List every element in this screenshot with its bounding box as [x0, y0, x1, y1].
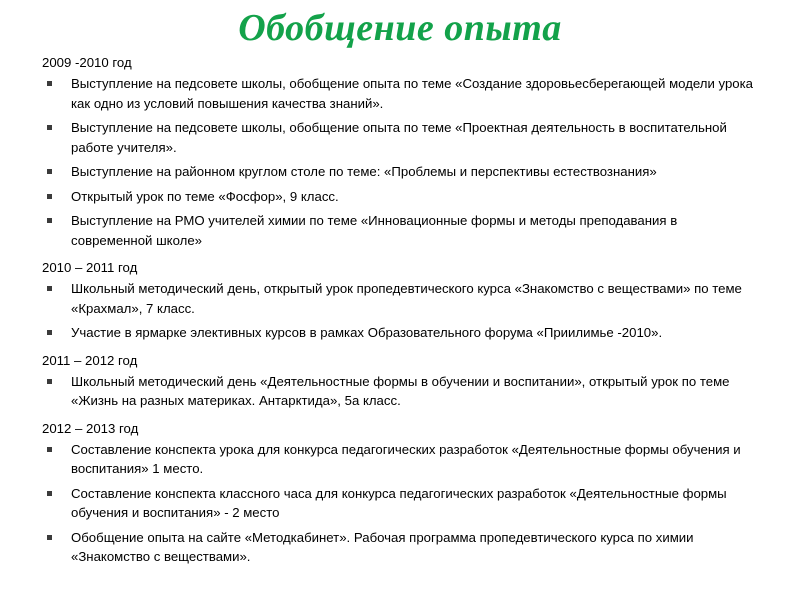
section-heading: 2010 – 2011 год [40, 255, 756, 279]
list-item-text: Составление конспекта урока для конкурса… [71, 440, 756, 479]
bullet-list: Выступление на педсовете школы, обобщени… [40, 74, 756, 255]
square-bullet-icon [47, 81, 52, 86]
page-title: Обобщение опыта [0, 0, 800, 50]
list-item-text: Участие в ярмарке элективных курсов в ра… [71, 323, 756, 343]
square-bullet-icon [47, 169, 52, 174]
list-item: Выступление на районном круглом столе по… [40, 162, 756, 187]
square-bullet-icon [47, 447, 52, 452]
slide-body: 2009 -2010 год Выступление на педсовете … [0, 50, 800, 572]
square-bullet-icon [47, 379, 52, 384]
list-item: Обобщение опыта на сайте «Методкабинет».… [40, 528, 756, 572]
list-item: Составление конспекта урока для конкурса… [40, 440, 756, 484]
section-2010-2011: 2010 – 2011 год Школьный методический де… [40, 255, 756, 348]
bullet-list: Школьный методический день «Деятельностн… [40, 372, 756, 416]
list-item-text: Выступление на районном круглом столе по… [71, 162, 756, 182]
section-2011-2012: 2011 – 2012 год Школьный методический де… [40, 348, 756, 416]
list-item: Школьный методический день «Деятельностн… [40, 372, 756, 416]
list-item-text: Открытый урок по теме «Фосфор», 9 класс. [71, 187, 756, 207]
list-item-text: Школьный методический день, открытый уро… [71, 279, 756, 318]
section-heading: 2011 – 2012 год [40, 348, 756, 372]
bullet-list: Школьный методический день, открытый уро… [40, 279, 756, 348]
list-item-text: Выступление на педсовете школы, обобщени… [71, 118, 756, 157]
list-item: Открытый урок по теме «Фосфор», 9 класс. [40, 187, 756, 212]
square-bullet-icon [47, 491, 52, 496]
square-bullet-icon [47, 286, 52, 291]
section-2009-2010: 2009 -2010 год Выступление на педсовете … [40, 50, 756, 255]
list-item: Выступление на педсовете школы, обобщени… [40, 118, 756, 162]
square-bullet-icon [47, 125, 52, 130]
square-bullet-icon [47, 194, 52, 199]
section-heading: 2012 – 2013 год [40, 416, 756, 440]
list-item-text: Составление конспекта классного часа для… [71, 484, 756, 523]
list-item: Выступление на РМО учителей химии по тем… [40, 211, 756, 255]
square-bullet-icon [47, 535, 52, 540]
list-item: Выступление на педсовете школы, обобщени… [40, 74, 756, 118]
slide: Обобщение опыта 2009 -2010 год Выступлен… [0, 0, 800, 600]
list-item: Участие в ярмарке элективных курсов в ра… [40, 323, 756, 348]
bullet-list: Составление конспекта урока для конкурса… [40, 440, 756, 572]
square-bullet-icon [47, 218, 52, 223]
list-item-text: Выступление на педсовете школы, обобщени… [71, 74, 756, 113]
list-item-text: Школьный методический день «Деятельностн… [71, 372, 756, 411]
list-item-text: Обобщение опыта на сайте «Методкабинет».… [71, 528, 756, 567]
list-item: Школьный методический день, открытый уро… [40, 279, 756, 323]
section-2012-2013: 2012 – 2013 год Составление конспекта ур… [40, 416, 756, 572]
list-item: Составление конспекта классного часа для… [40, 484, 756, 528]
section-heading: 2009 -2010 год [40, 50, 756, 74]
list-item-text: Выступление на РМО учителей химии по тем… [71, 211, 756, 250]
square-bullet-icon [47, 330, 52, 335]
